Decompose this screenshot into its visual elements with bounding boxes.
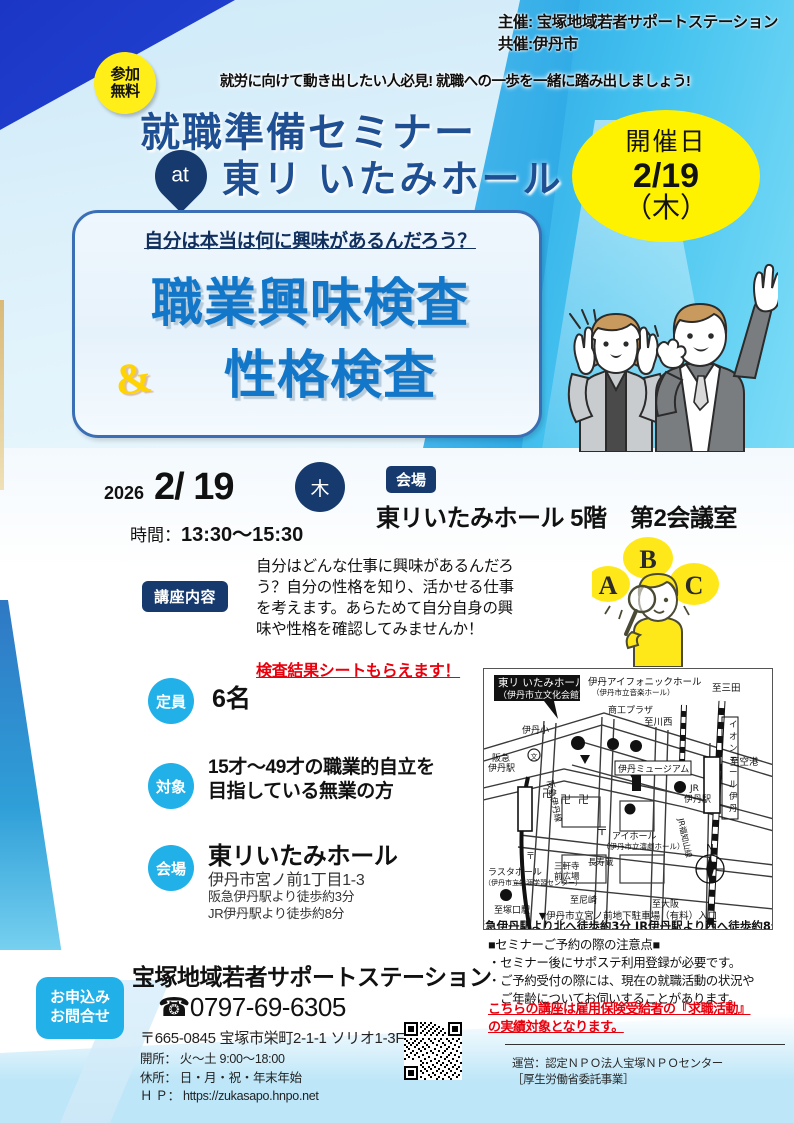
target-value: 15才〜49才の職業的自立を 目指している無業の方 bbox=[208, 756, 435, 805]
svg-text:至三田: 至三田 bbox=[712, 683, 741, 694]
venue-address: 伊丹市宮ノ前1丁目1-3 bbox=[208, 866, 364, 890]
telephone-icon: ☎ bbox=[158, 992, 190, 1022]
svg-text:C: C bbox=[685, 571, 704, 600]
at-label: at bbox=[171, 163, 189, 187]
catchphrase: 就労に向けて動き出したい人必見! 就職への一歩を一緒に踏み出しましょう! bbox=[185, 70, 725, 91]
svg-text:卍: 卍 bbox=[578, 793, 589, 806]
content-highlight: 検査結果シートもらえます！ bbox=[256, 657, 460, 681]
content-tag: 講座内容 bbox=[142, 581, 228, 612]
svg-text:伊丹小: 伊丹小 bbox=[522, 724, 549, 736]
svg-text:B: B bbox=[639, 545, 656, 574]
reservation-notes: ■セミナーご予約の際の注意点■ ・セミナー後にサポステ利用登録が必要です。 ・ご… bbox=[488, 936, 788, 1009]
svg-text:三軒寺: 三軒寺 bbox=[554, 862, 580, 872]
svg-text:丹: 丹 bbox=[729, 804, 738, 814]
phone-number: 0797-69-6305 bbox=[190, 992, 346, 1022]
svg-text:至大阪: 至大阪 bbox=[652, 898, 679, 910]
svg-text:伊丹駅: 伊丹駅 bbox=[684, 793, 711, 805]
svg-text:（伊丹市立音楽ホール）: （伊丹市立音楽ホール） bbox=[592, 687, 675, 697]
svg-text:JR: JR bbox=[689, 784, 699, 794]
svg-text:イ: イ bbox=[729, 720, 738, 730]
venue-title: 東リ いたみホール bbox=[222, 148, 564, 203]
notes-highlight: こちらの講座は雇用保険受給者の『求職活動』 の実績対象となります。 bbox=[488, 1000, 788, 1036]
qr-code-icon[interactable] bbox=[404, 1022, 462, 1080]
venue-tag-detail: 会場 bbox=[148, 845, 194, 891]
svg-text:〒: 〒 bbox=[526, 852, 535, 862]
svg-text:（伊丹市立生涯学習センター）: （伊丹市立生涯学習センター） bbox=[484, 878, 582, 887]
target-tag: 対象 bbox=[148, 763, 194, 809]
contact-address: 〒665-0845 宝塚市栄町2-1-1 ソリオ1-3F bbox=[140, 1028, 404, 1050]
apply-contact-tag: お申込み お問合せ bbox=[36, 977, 124, 1039]
date-bubble-date: 2/19 bbox=[633, 158, 699, 195]
svg-text:N: N bbox=[706, 843, 713, 854]
venue-room: 東リいたみホール 5階 第2会議室 bbox=[376, 498, 737, 533]
capacity-tag: 定員 bbox=[148, 678, 194, 724]
svg-text:ル: ル bbox=[729, 780, 738, 790]
contact-closed: 休所： 日・月・祝・年末年始 bbox=[140, 1069, 404, 1088]
venue-access-line2: JR伊丹駅より徒歩約8分 bbox=[208, 905, 354, 922]
event-weekday-circle: 木 bbox=[295, 462, 345, 512]
main-title-line2: 性格検査 bbox=[75, 333, 545, 408]
gold-edge-accent bbox=[0, 300, 4, 490]
free-badge-line2: 無料 bbox=[110, 83, 139, 100]
access-map: 卍卍卍 〒 〒 文 東リ いたみホール （伊丹市立文化会館） 伊丹アイフォニック… bbox=[483, 668, 773, 930]
contact-phone: ☎0797-69-6305 bbox=[158, 992, 346, 1023]
svg-text:（伊丹市立文化会館）: （伊丹市立文化会館） bbox=[498, 689, 588, 701]
target-value-line1: 15才〜49才の職業的自立を bbox=[208, 756, 435, 780]
free-badge-line1: 参加 bbox=[110, 66, 139, 83]
target-value-line2: 目指している無業の方 bbox=[208, 780, 435, 804]
notes-red-line1: こちらの講座は雇用保険受給者の『求職活動』 bbox=[488, 1000, 788, 1018]
svg-text:至尼崎: 至尼崎 bbox=[570, 894, 597, 906]
svg-text:至川西: 至川西 bbox=[644, 717, 673, 728]
contact-homepage: Ｈ Ｐ： https://zukasapo.hnpo.net bbox=[140, 1087, 404, 1106]
contact-org-name: 宝塚地域若者サポートステーション bbox=[132, 958, 492, 992]
event-year: 2026 bbox=[104, 483, 144, 504]
venue-access-line1: 阪急伊丹駅より徒歩約3分 bbox=[208, 888, 354, 905]
contact-open-hours: 開所： 火〜土 9:00〜18:00 bbox=[140, 1050, 404, 1069]
abc-magnifier-illustration: A B C bbox=[592, 532, 732, 667]
event-month-day: 2/ 19 bbox=[154, 466, 234, 509]
main-subtitle: 自分は本当は何に興味があるんだろう？ bbox=[75, 226, 545, 253]
venue-tag-header: 会場 bbox=[386, 466, 436, 493]
operator-divider bbox=[505, 1044, 785, 1045]
time-label: 時間： bbox=[130, 526, 181, 545]
capacity-value: 6名 bbox=[212, 679, 251, 715]
operator-block: 運営：認定ＮＰＯ法人宝塚ＮＰＯセンター ［厚生労働省委託事業］ bbox=[512, 1056, 792, 1088]
main-title-box: 自分は本当は何に興味があるんだろう？ 職業興味検査 & 性格検査 bbox=[72, 210, 542, 438]
svg-text:〒: 〒 bbox=[596, 824, 608, 838]
svg-text:卍: 卍 bbox=[560, 793, 571, 806]
organizer-main: 主催: 宝塚地域若者サポートステーション bbox=[498, 12, 778, 34]
date-bubble: 開催日 2/19 （木） bbox=[572, 110, 760, 242]
flyer-page: 主催: 宝塚地域若者サポートステーション 共催:伊丹市 参加 無料 就労に向けて… bbox=[0, 0, 794, 1123]
svg-text:長寿蔵: 長寿蔵 bbox=[588, 857, 614, 868]
svg-text:伊丹駅: 伊丹駅 bbox=[488, 762, 515, 774]
notes-line2: ・ご予約受付の際には、現在の就職活動の状況や bbox=[488, 972, 788, 990]
main-title-line1: 職業興味検査 bbox=[75, 261, 545, 336]
business-people-illustration bbox=[548, 252, 778, 452]
svg-text:ー: ー bbox=[729, 768, 738, 778]
content-description: 自分はどんな仕事に興味があるんだろう？自分の性格を知り、活かせる仕事を考えます。… bbox=[256, 556, 518, 640]
operator-line1: 運営：認定ＮＰＯ法人宝塚ＮＰＯセンター bbox=[512, 1056, 792, 1072]
svg-text:商工プラザ: 商工プラザ bbox=[608, 704, 653, 716]
apply-line2: お問合せ bbox=[50, 1008, 110, 1027]
date-bubble-label: 開催日 bbox=[625, 129, 706, 156]
venue-access: 阪急伊丹駅より徒歩約3分 JR伊丹駅より徒歩約8分 bbox=[208, 888, 354, 922]
svg-text:モ: モ bbox=[729, 756, 738, 766]
event-time-line: 時間：13:30〜15:30 bbox=[130, 518, 303, 547]
map-graphic: 卍卍卍 〒 〒 文 東リ いたみホール （伊丹市立文化会館） 伊丹アイフォニック… bbox=[484, 669, 773, 930]
svg-text:伊丹ミュージアム: 伊丹ミュージアム bbox=[618, 763, 689, 775]
operator-line2: ［厚生労働省委託事業］ bbox=[512, 1072, 792, 1088]
event-date-line: 2026 2/ 19 bbox=[104, 466, 234, 509]
map-walk-note: 阪急伊丹駅より北へ徒歩約3分 JR伊丹駅より西へ徒歩約8分 bbox=[484, 919, 773, 930]
svg-text:（伊丹市立演劇ホール）: （伊丹市立演劇ホール） bbox=[602, 841, 685, 851]
svg-text:ラスタホール: ラスタホール bbox=[488, 867, 542, 878]
svg-text:アイホール: アイホール bbox=[612, 831, 657, 842]
notes-red-line2: の実績対象となります。 bbox=[488, 1018, 788, 1036]
organizer-block: 主催: 宝塚地域若者サポートステーション 共催:伊丹市 bbox=[498, 12, 778, 56]
svg-text:伊丹アイフォニックホール: 伊丹アイフォニックホール bbox=[588, 676, 702, 688]
svg-text:文: 文 bbox=[531, 752, 538, 761]
svg-text:至塚口駅: 至塚口駅 bbox=[494, 905, 530, 916]
notes-line1: ・セミナー後にサポステ利用登録が必要です。 bbox=[488, 954, 788, 972]
svg-text:ン: ン bbox=[729, 744, 738, 754]
svg-text:伊: 伊 bbox=[729, 791, 738, 802]
contact-address-block: 〒665-0845 宝塚市栄町2-1-1 ソリオ1-3F 開所： 火〜土 9:0… bbox=[140, 1028, 404, 1106]
svg-text:阪急: 阪急 bbox=[492, 752, 510, 764]
svg-text:A: A bbox=[599, 571, 618, 600]
notes-heading: ■セミナーご予約の際の注意点■ bbox=[488, 936, 788, 954]
svg-text:オ: オ bbox=[729, 732, 738, 742]
svg-text:東リ いたみホール: 東リ いたみホール bbox=[498, 676, 585, 689]
organizer-co: 共催:伊丹市 bbox=[498, 34, 778, 56]
date-bubble-weekday: （木） bbox=[624, 193, 708, 223]
time-value: 13:30〜15:30 bbox=[181, 524, 303, 546]
apply-line1: お申込み bbox=[50, 989, 110, 1008]
